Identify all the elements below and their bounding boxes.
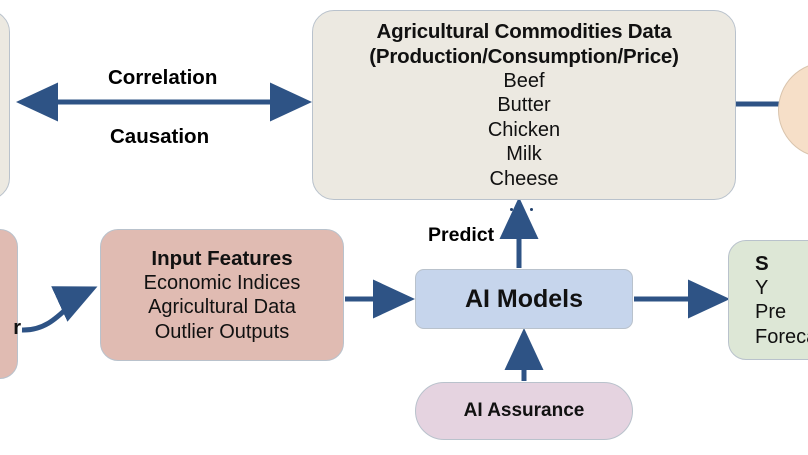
edge-left-salmon-to-input-features	[22, 289, 92, 330]
agri-item-butter: Butter	[497, 93, 550, 117]
output-title: S	[755, 251, 769, 276]
output-item-3: Foreca	[755, 325, 808, 349]
node-input-features[interactable]: Input Features Economic Indices Agricult…	[100, 229, 344, 361]
input-features-item-agricultural-data: Agricultural Data	[148, 295, 296, 319]
agri-title-line-1: Agricultural Commodities Data	[377, 19, 672, 44]
node-left-salmon-partial[interactable]: r	[0, 229, 18, 379]
left-salmon-clipped-text: r	[13, 316, 21, 340]
ai-assurance-title: AI Assurance	[464, 399, 585, 422]
diagram-canvas: Agricultural Commodities Data (Productio…	[0, 0, 808, 455]
node-left-beige-partial[interactable]	[0, 10, 10, 200]
input-features-item-outlier-outputs: Outlier Outputs	[155, 320, 290, 344]
output-item-1: Y	[755, 276, 768, 300]
node-ai-assurance[interactable]: AI Assurance	[415, 382, 633, 440]
node-agricultural-commodities-data[interactable]: Agricultural Commodities Data (Productio…	[312, 10, 736, 200]
node-right-circle-partial[interactable]	[778, 62, 808, 158]
edge-label-predict: Predict	[428, 224, 494, 247]
arrow-artifact-dot-left	[510, 208, 513, 211]
node-ai-models[interactable]: AI Models	[415, 269, 633, 329]
node-output-green-partial[interactable]: S Y Pre Foreca	[728, 240, 808, 360]
agri-item-milk: Milk	[506, 142, 542, 166]
input-features-title: Input Features	[151, 246, 292, 271]
edge-label-correlation: Correlation	[108, 66, 217, 90]
ai-models-title: AI Models	[465, 284, 583, 315]
agri-title-line-2: (Production/Consumption/Price)	[369, 44, 678, 69]
input-features-item-economic-indices: Economic Indices	[144, 271, 301, 295]
agri-item-cheese: Cheese	[490, 167, 559, 191]
agri-item-chicken: Chicken	[488, 118, 560, 142]
edge-label-causation: Causation	[110, 125, 209, 149]
agri-item-beef: Beef	[503, 69, 544, 93]
output-item-2: Pre	[755, 300, 786, 324]
arrow-artifact-dot-right	[530, 208, 533, 211]
